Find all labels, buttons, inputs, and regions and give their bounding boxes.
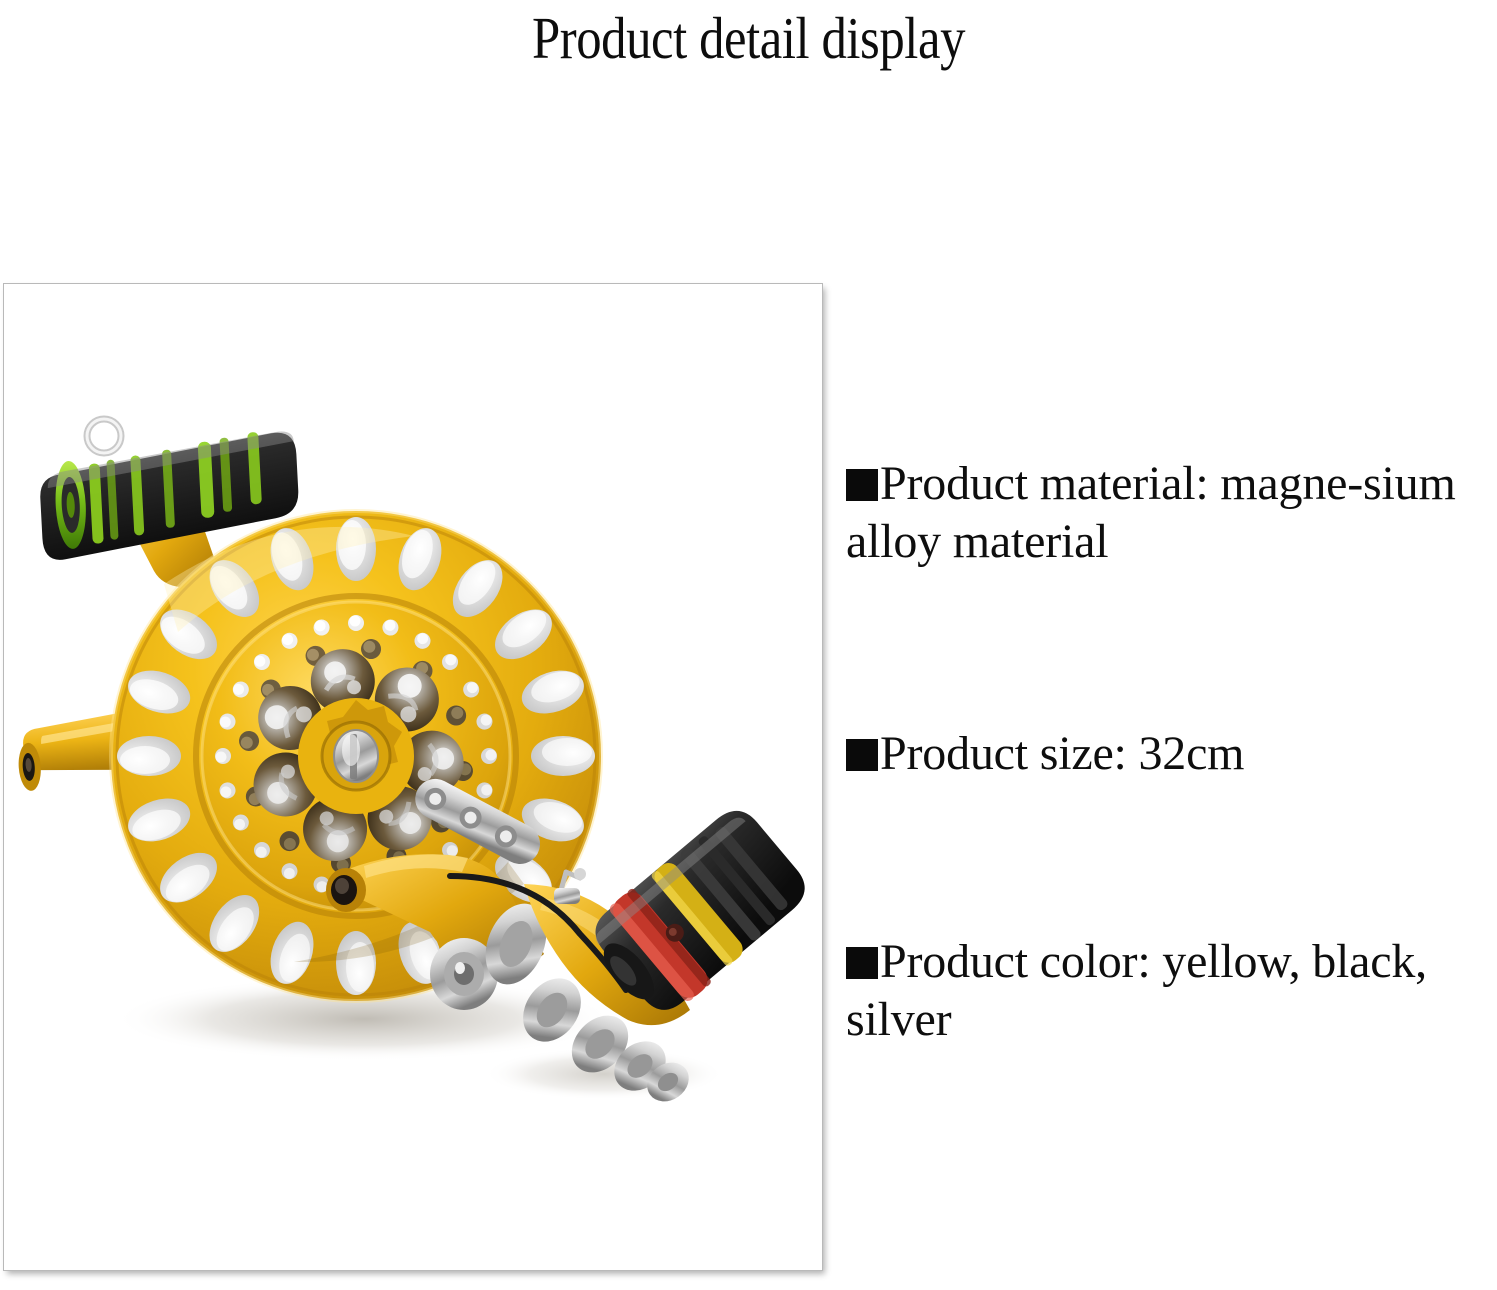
spec-item-size: Product size: 32cm	[846, 725, 1494, 783]
spec-item-color: Product color: yellow, black, silver	[846, 933, 1494, 1049]
fishing-reel-illustration	[4, 284, 822, 1270]
square-bullet-icon	[846, 947, 878, 979]
center-hub	[298, 698, 414, 814]
product-photo-frame	[3, 283, 823, 1271]
spec-text-size: Product size: 32cm	[880, 727, 1244, 780]
split-ring	[87, 419, 121, 453]
square-bullet-icon	[846, 739, 878, 771]
spec-text-color: Product color: yellow, black, silver	[846, 935, 1427, 1046]
page-title: Product detail display	[105, 2, 1392, 74]
spec-text-material: Product material: magne-sium alloy mater…	[846, 457, 1456, 568]
spec-item-material: Product material: magne-sium alloy mater…	[846, 455, 1494, 571]
product-detail-page: Product detail display	[0, 0, 1497, 1290]
square-bullet-icon	[846, 469, 878, 501]
